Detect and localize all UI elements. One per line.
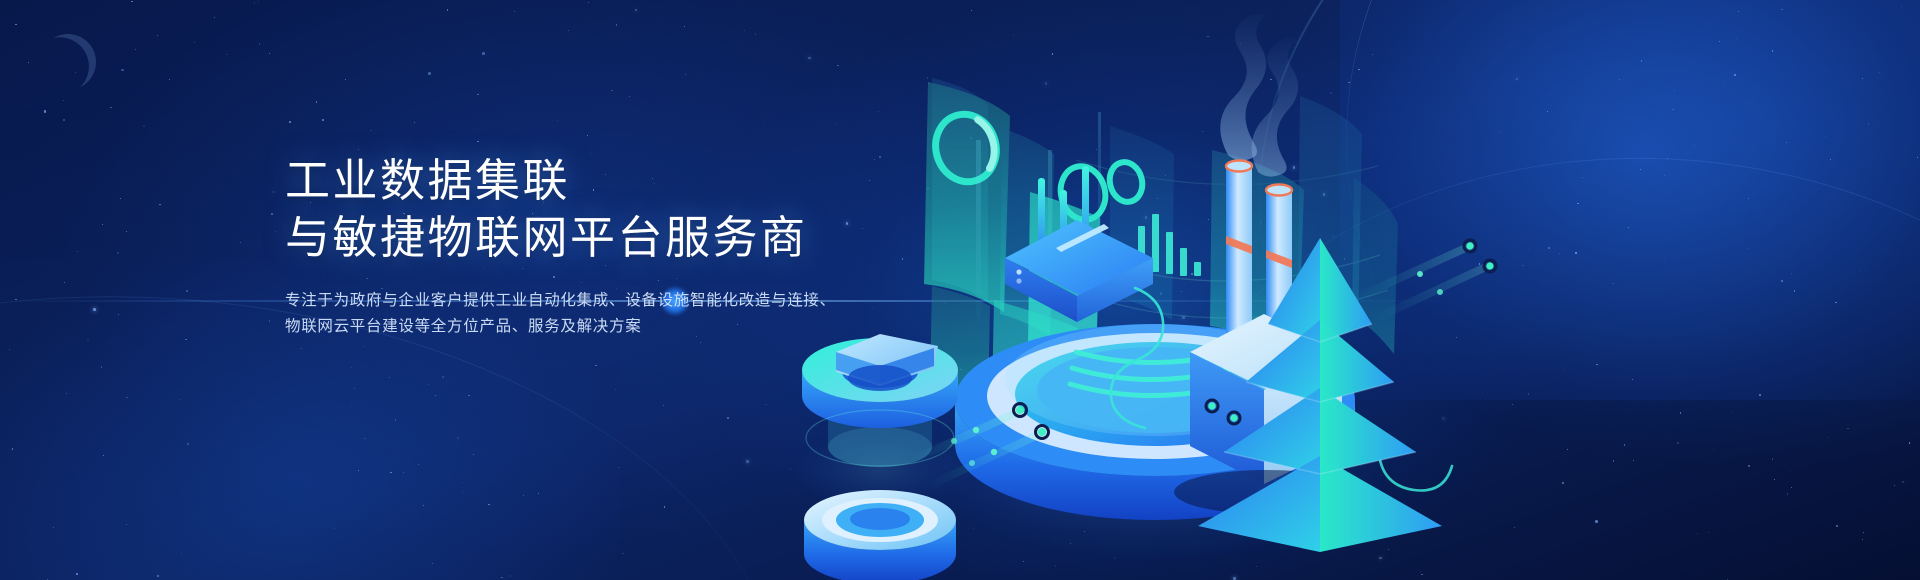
star-particle — [1862, 78, 1863, 79]
star-particle — [214, 17, 215, 18]
star-particle — [622, 553, 623, 554]
star-particle — [664, 506, 666, 508]
star-particle — [75, 72, 76, 73]
donut-chart-cylinder — [788, 334, 972, 512]
star-particle — [390, 472, 391, 473]
star-particle — [316, 101, 318, 103]
star-particle — [744, 30, 745, 31]
star-particle — [615, 389, 616, 390]
star-particle — [442, 376, 444, 378]
star-particle — [194, 42, 195, 43]
star-particle — [157, 35, 158, 36]
star-particle — [351, 406, 352, 407]
isometric-illustration — [780, 0, 1780, 580]
star-particle — [457, 437, 460, 440]
star-particle — [395, 419, 396, 420]
star-particle — [428, 384, 429, 385]
star-particle — [447, 9, 448, 10]
headline-line-2: 与敏捷物联网平台服务商 — [285, 212, 808, 263]
star-particle — [482, 52, 485, 55]
star-particle — [488, 504, 490, 506]
star-particle — [358, 149, 359, 150]
star-particle — [345, 79, 346, 80]
hero-banner: 工业数据集联 与敏捷物联网平台服务商 专注于为政府与企业客户提供工业自动化集成、… — [0, 0, 1920, 580]
star-particle — [269, 320, 271, 322]
star-particle — [289, 121, 291, 123]
star-particle — [126, 524, 127, 525]
star-particle — [334, 528, 335, 529]
star-particle — [364, 438, 366, 440]
star-particle — [301, 348, 302, 349]
star-particle — [187, 443, 189, 445]
star-particle — [1879, 72, 1880, 73]
star-particle — [1860, 270, 1861, 271]
star-particle — [746, 460, 749, 463]
star-particle — [509, 575, 511, 577]
star-particle — [269, 53, 270, 54]
star-particle — [120, 198, 121, 199]
star-particle — [1868, 123, 1869, 124]
star-particle — [258, 1, 259, 2]
star-particle — [117, 252, 119, 254]
star-particle — [63, 119, 65, 121]
star-particle — [1781, 280, 1783, 282]
smoke-plumes — [1220, 14, 1298, 177]
star-particle — [135, 49, 136, 50]
star-particle — [186, 290, 188, 292]
hero-copy-block: 工业数据集联 与敏捷物联网平台服务商 专注于为政府与企业客户提供工业自动化集成、… — [285, 152, 925, 340]
star-particle — [1787, 493, 1788, 494]
star-particle — [322, 119, 324, 121]
headline-line-1: 工业数据集联 — [285, 155, 570, 206]
star-particle — [389, 377, 390, 378]
star-particle — [9, 349, 10, 350]
star-particle — [514, 11, 515, 12]
star-particle — [169, 79, 170, 80]
star-particle — [110, 107, 112, 109]
star-particle — [103, 455, 104, 456]
star-particle — [87, 339, 89, 341]
star-particle — [663, 405, 664, 406]
star-particle — [28, 62, 29, 63]
hero-subtitle: 专注于为政府与企业客户提供工业自动化集成、设备设施智能化改造与连接、 物联网云平… — [285, 288, 815, 340]
star-particle — [102, 224, 103, 225]
star-particle — [428, 72, 431, 75]
star-particle — [462, 492, 463, 493]
star-particle — [1781, 9, 1782, 10]
crescent-moon-decoration — [35, 29, 101, 95]
star-particle — [180, 399, 181, 400]
star-particle — [226, 54, 227, 55]
star-particle — [1863, 532, 1864, 533]
star-particle — [418, 464, 419, 465]
star-particle — [1862, 539, 1863, 540]
star-particle — [435, 395, 436, 396]
star-particle — [275, 231, 276, 232]
star-particle — [1847, 428, 1849, 430]
subtitle-line-2: 物联网云平台建设等全方位产品、服务及解决方案 — [285, 314, 815, 340]
star-particle — [1901, 6, 1902, 7]
star-particle — [157, 575, 159, 577]
star-particle — [1791, 487, 1792, 488]
star-particle — [76, 573, 78, 575]
star-particle — [538, 493, 539, 494]
star-particle — [1909, 442, 1910, 443]
star-particle — [1827, 437, 1828, 438]
star-particle — [1894, 485, 1895, 486]
star-particle — [101, 366, 103, 368]
star-particle — [1917, 157, 1918, 158]
star-particle — [403, 472, 404, 473]
star-particle — [1835, 302, 1836, 303]
star-particle — [557, 120, 558, 121]
star-particle — [1791, 273, 1792, 274]
star-particle — [53, 527, 54, 528]
star-particle — [462, 482, 464, 484]
star-particle — [370, 130, 371, 131]
star-particle — [1825, 136, 1826, 137]
star-particle — [131, 1, 132, 2]
star-particle — [477, 141, 478, 142]
star-particle — [616, 24, 617, 25]
star-particle — [363, 346, 364, 347]
subtitle-line-1: 专注于为政府与企业客户提供工业自动化集成、设备设施智能化改造与连接、 — [285, 288, 815, 314]
star-particle — [64, 282, 65, 283]
star-particle — [143, 125, 145, 127]
star-particle — [159, 204, 160, 205]
star-particle — [44, 110, 47, 113]
star-particle — [468, 395, 469, 396]
page-title: 工业数据集联 与敏捷物联网平台服务商 — [285, 152, 925, 266]
star-particle — [587, 135, 588, 136]
star-particle — [181, 553, 182, 554]
star-particle — [764, 124, 765, 125]
star-particle — [93, 308, 96, 311]
star-particle — [618, 467, 619, 468]
star-particle — [765, 404, 766, 405]
star-particle — [1794, 290, 1796, 292]
star-particle — [1786, 142, 1787, 143]
star-particle — [423, 505, 424, 506]
star-particle — [755, 33, 756, 34]
star-particle — [271, 213, 273, 215]
star-particle — [121, 69, 124, 72]
star-particle — [63, 100, 64, 101]
star-particle — [15, 24, 17, 26]
star-particle — [727, 417, 729, 419]
star-particle — [568, 30, 570, 32]
star-particle — [684, 26, 685, 27]
star-particle — [523, 495, 524, 496]
star-particle — [629, 96, 630, 97]
star-particle — [66, 393, 67, 394]
star-particle — [414, 122, 415, 123]
star-particle — [259, 43, 260, 44]
star-particle — [77, 251, 78, 252]
star-particle — [12, 448, 13, 449]
star-particle — [595, 365, 596, 366]
star-particle — [700, 342, 701, 343]
star-particle — [501, 577, 502, 578]
star-particle — [1902, 481, 1905, 484]
star-particle — [126, 231, 127, 232]
star-particle — [358, 470, 359, 471]
star-particle — [611, 90, 613, 92]
star-particle — [254, 2, 255, 3]
star-particle — [29, 105, 30, 106]
star-particle — [588, 2, 589, 3]
star-particle — [118, 314, 119, 315]
star-particle — [272, 191, 275, 194]
ring-platform-small — [804, 490, 956, 580]
star-particle — [1836, 525, 1838, 527]
star-particle — [432, 563, 433, 564]
star-particle — [126, 397, 128, 399]
star-particle — [351, 367, 352, 368]
star-particle — [477, 94, 478, 95]
star-particle — [1830, 159, 1831, 160]
star-particle — [185, 339, 187, 341]
star-particle — [240, 242, 242, 244]
star-particle — [473, 454, 474, 455]
star-particle — [354, 388, 355, 389]
star-particle — [589, 34, 590, 35]
star-particle — [685, 74, 686, 75]
star-particle — [1790, 470, 1791, 471]
star-particle — [635, 9, 638, 12]
